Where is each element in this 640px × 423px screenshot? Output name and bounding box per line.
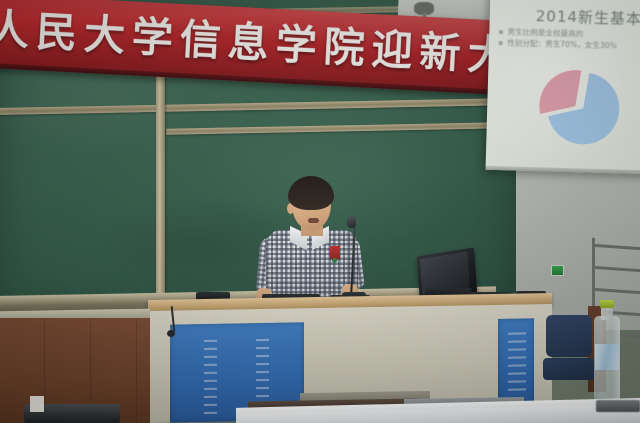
vent-slot [204,412,217,414]
foreground-object [596,400,640,412]
bottle-cap [600,300,614,308]
vent-slot [256,339,269,341]
water-bottle [592,300,622,404]
foreground-paper [30,396,44,412]
lecture-hall-photo: 人民大学信息学院迎新大会 2014新生基本 ▪ 男生比例是全校最高的 ▪ 性别分… [0,0,640,423]
vent-slot [508,340,526,342]
vent-slot [204,340,217,342]
bullet-marker-icon: ▪ [498,26,503,37]
badge-dot [332,258,337,263]
bottle-neck [601,306,613,320]
vent-slot [204,364,217,366]
vent-slot [204,404,217,406]
bottle-label [595,344,619,370]
vent-slot [256,355,269,357]
vent-slot [204,348,217,350]
rail-rung [592,244,640,251]
bullet-marker-icon: ▪ [498,37,503,48]
exit-sign-icon [551,265,564,276]
chair-backrest [546,315,592,357]
chair-seat [543,358,595,380]
vent-slot [508,348,526,350]
microphone-icon [347,216,356,228]
vent-slot [508,388,526,390]
vent-slot [256,387,269,389]
vent-slot [256,395,269,397]
vent-slot [256,371,269,373]
vent-slot [256,363,269,365]
projection-screen: 2014新生基本 ▪ 男生比例是全校最高的 ▪ 性别分配：男生70%，女生30% [486,0,640,174]
vent-slot [204,356,217,358]
vent-slot [204,396,217,398]
slide-pie-chart [534,69,628,156]
presenter-hair [288,176,334,210]
mouth [308,218,319,223]
vent-slot [508,332,526,334]
vent-slot [508,372,526,374]
slide-bullet-list: ▪ 男生比例是全校最高的 ▪ 性别分配：男生70%，女生30% [498,26,640,52]
cable-connector [167,330,175,337]
rail-rung [592,266,640,273]
vent-slot [256,379,269,381]
vent-slot [204,372,217,374]
rail-rung [592,288,640,295]
vent-slot [204,388,217,390]
vent-slot [508,356,526,358]
vent-slot [508,364,526,366]
slide-title: 2014新生基本 [536,5,640,29]
vent-slot [256,347,269,349]
name-badge [330,246,340,259]
vent-slot [204,380,217,382]
podium-blue-panel-right [498,318,534,405]
vent-slot [508,380,526,382]
